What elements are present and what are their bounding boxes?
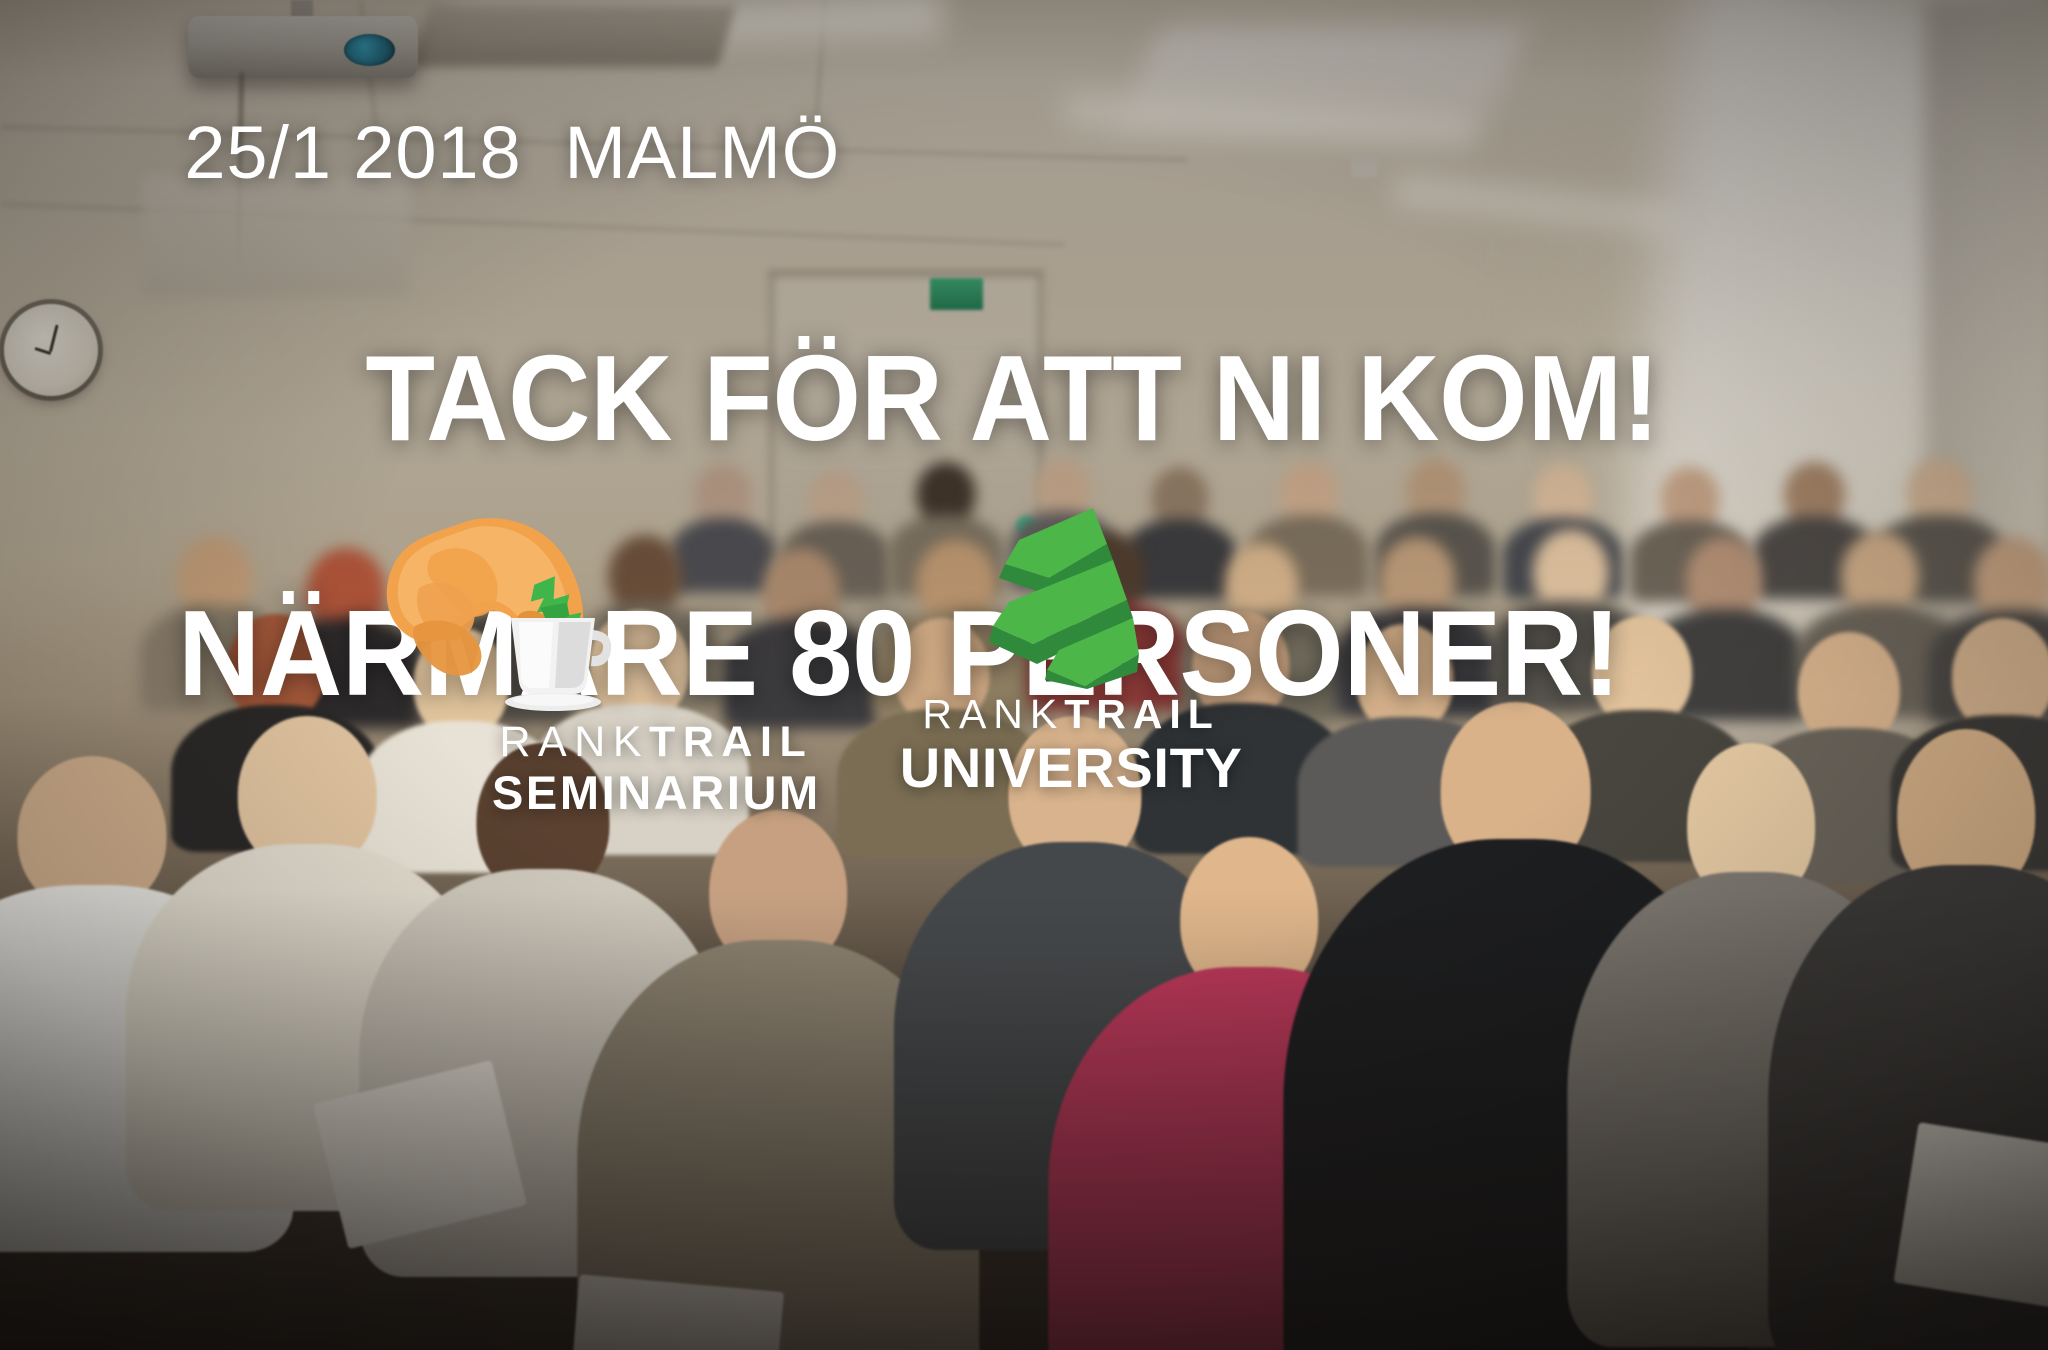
promo-image: 25/1 2018 MALMÖ TACK FÖR ATT NI KOM! NÄR… <box>0 0 2048 1350</box>
logo-lockups: RANKTRAIL SEMINARIUM RANKTRAIL <box>0 0 2048 1350</box>
logotype-row-brand: RANKTRAIL <box>815 694 1327 736</box>
logotype-rank: RANK <box>499 718 649 766</box>
logotype-subtitle: UNIVERSITY <box>815 739 1327 796</box>
coffee-cup-icon <box>497 608 615 716</box>
university-mark <box>815 504 1327 694</box>
green-ribbon-tree-icon <box>989 504 1139 689</box>
logotype-trail: TRAIL <box>649 718 813 766</box>
logotype-trail: TRAIL <box>1064 691 1220 737</box>
university-logotype: RANKTRAIL UNIVERSITY <box>815 694 1327 797</box>
logo-rank-trail-university: RANKTRAIL UNIVERSITY <box>815 504 1327 797</box>
logotype-rank: RANK <box>922 691 1064 737</box>
